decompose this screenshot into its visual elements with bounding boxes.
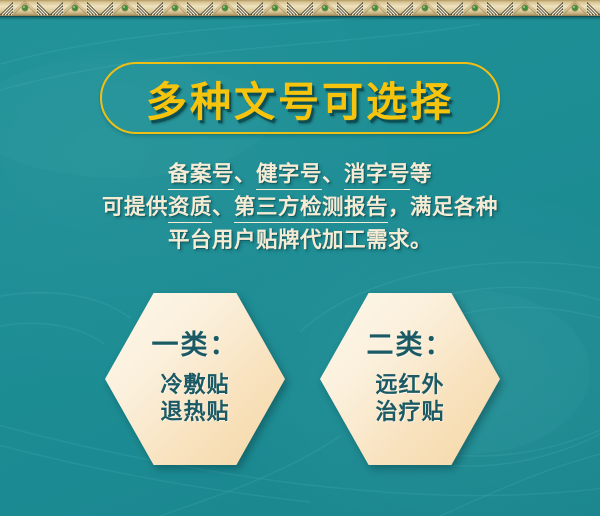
category-item: 退热贴 xyxy=(160,399,229,426)
description-line: 平台用户贴牌代加工需求。 xyxy=(0,224,600,257)
plain-text: ，满足各种 xyxy=(388,195,498,220)
hexagon-content: 一类： 冷敷贴 退热贴 xyxy=(105,293,285,465)
category-item: 远红外 xyxy=(375,372,444,399)
page-title: 多种文号可选择 xyxy=(100,62,500,134)
underlined-term: 资质 xyxy=(168,195,212,223)
description-line: 备案号、健字号、消字号等 xyxy=(0,158,600,191)
plain-text: 平台用户贴牌代加工需求。 xyxy=(168,228,432,253)
description-line: 可提供资质、第三方检测报告，满足各种 xyxy=(0,191,600,224)
ornament-pattern-svg xyxy=(0,0,600,16)
category-hexagon-two[interactable]: 二类： 远红外 治疗贴 xyxy=(320,293,500,465)
plain-text: 、 xyxy=(212,195,234,220)
plain-text: 等 xyxy=(410,162,432,187)
plain-text: 可提供 xyxy=(102,195,168,220)
underlined-term: 消字号 xyxy=(344,162,410,190)
category-item: 治疗贴 xyxy=(375,399,444,426)
underlined-term: 备案号 xyxy=(168,162,234,190)
description-paragraph: 备案号、健字号、消字号等 可提供资质、第三方检测报告，满足各种 平台用户贴牌代加… xyxy=(0,158,600,257)
category-hexagon-one[interactable]: 一类： 冷敷贴 退热贴 xyxy=(105,293,285,465)
category-item: 冷敷贴 xyxy=(160,372,229,399)
underlined-term: 第三方检测报告 xyxy=(234,195,388,223)
plain-text: 、 xyxy=(322,162,344,187)
category-title: 二类： xyxy=(367,332,454,360)
category-title: 一类： xyxy=(152,332,239,360)
promo-poster: 多种文号可选择 备案号、健字号、消字号等 可提供资质、第三方检测报告，满足各种 … xyxy=(0,0,600,516)
top-ornament-band xyxy=(0,0,600,16)
hexagon-content: 二类： 远红外 治疗贴 xyxy=(320,293,500,465)
underlined-term: 健字号 xyxy=(256,162,322,190)
ornament-under-shadow xyxy=(0,16,600,20)
plain-text: 、 xyxy=(234,162,256,187)
